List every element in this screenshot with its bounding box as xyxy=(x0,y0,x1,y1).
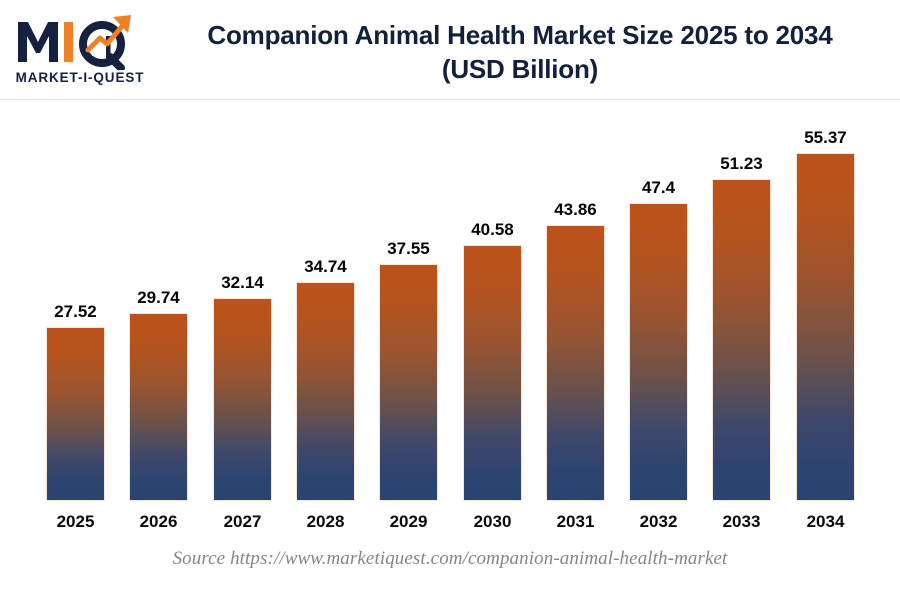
page-title: Companion Animal Health Market Size 2025… xyxy=(150,18,890,86)
bar[interactable] xyxy=(47,328,104,500)
bar[interactable] xyxy=(713,180,770,500)
bar[interactable] xyxy=(464,246,521,500)
logo-wordmark: MARKET-I-QUEST xyxy=(14,70,146,85)
bar[interactable] xyxy=(547,226,604,500)
plot-area: 27.52202529.74202632.14202734.74202837.5… xyxy=(47,100,853,500)
bar[interactable] xyxy=(630,204,687,500)
title-line-2: (USD Billion) xyxy=(150,52,890,86)
bar-group: 43.86 xyxy=(547,100,604,500)
bar-group: 34.74 xyxy=(297,100,354,500)
bar-group: 37.55 xyxy=(380,100,437,500)
x-axis-tick-label: 2029 xyxy=(360,512,457,532)
bar-group: 40.58 xyxy=(464,100,521,500)
bar-value-label: 37.55 xyxy=(360,239,457,259)
chart-page: MARKET-I-QUEST Companion Animal Health M… xyxy=(0,0,900,600)
header: MARKET-I-QUEST Companion Animal Health M… xyxy=(0,0,900,100)
bar[interactable] xyxy=(297,283,354,500)
company-logo: MARKET-I-QUEST xyxy=(14,12,146,90)
bar-value-label: 47.4 xyxy=(610,178,707,198)
bar-value-label: 55.37 xyxy=(777,128,874,148)
x-axis-tick-label: 2033 xyxy=(693,512,790,532)
bar-value-label: 34.74 xyxy=(277,257,374,277)
bar-value-label: 40.58 xyxy=(444,220,541,240)
bar-group: 55.37 xyxy=(797,100,854,500)
bar[interactable] xyxy=(380,265,437,500)
source-caption: Source https://www.marketiquest.com/comp… xyxy=(0,548,900,570)
bar-group: 32.14 xyxy=(214,100,271,500)
x-axis-tick-label: 2034 xyxy=(777,512,874,532)
bar-value-label: 43.86 xyxy=(527,200,624,220)
x-axis-tick-label: 2026 xyxy=(110,512,207,532)
bar-group: 29.74 xyxy=(130,100,187,500)
bar[interactable] xyxy=(214,299,271,500)
bar-chart: 27.52202529.74202632.14202734.74202837.5… xyxy=(0,100,900,600)
bar-value-label: 29.74 xyxy=(110,288,207,308)
bar[interactable] xyxy=(797,154,854,500)
title-line-1: Companion Animal Health Market Size 2025… xyxy=(207,20,832,50)
logo-mark-icon xyxy=(14,12,146,70)
bar-group: 47.4 xyxy=(630,100,687,500)
bar[interactable] xyxy=(130,314,187,500)
bar-group: 27.52 xyxy=(47,100,104,500)
bar-value-label: 51.23 xyxy=(693,154,790,174)
bar-group: 51.23 xyxy=(713,100,770,500)
